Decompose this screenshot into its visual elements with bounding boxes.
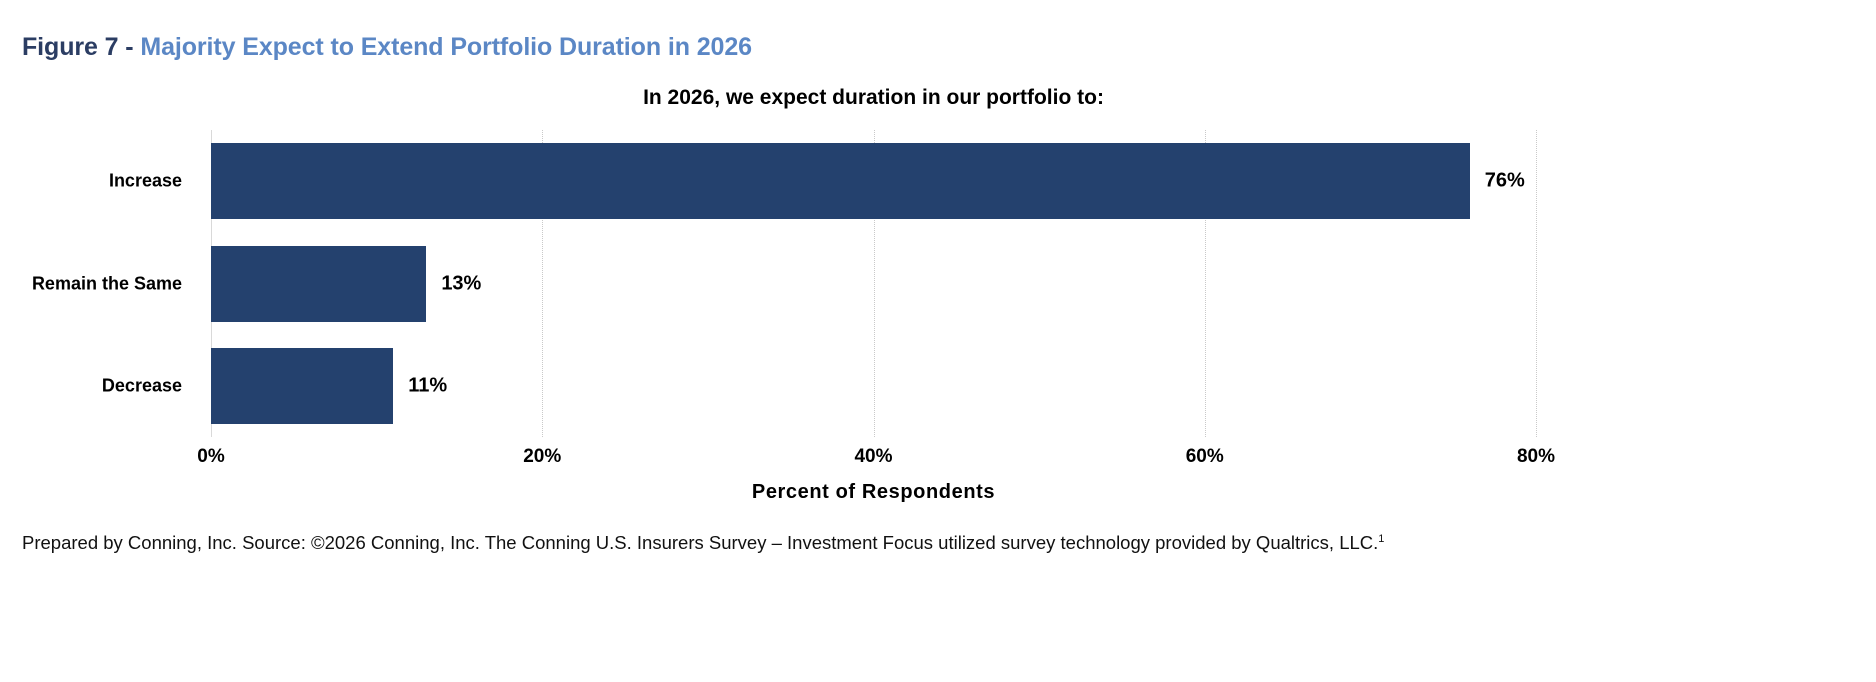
x-tick-label: 20% <box>523 446 561 468</box>
bar-row: 76% <box>211 143 1536 219</box>
bar-increase[interactable] <box>211 143 1470 219</box>
footnote: Prepared by Conning, Inc. Source: ©2026 … <box>22 532 1384 554</box>
x-tick-label: 40% <box>854 446 892 468</box>
footnote-superscript: 1 <box>1378 533 1384 545</box>
x-axis-title: Percent of Respondents <box>211 481 1536 504</box>
category-label-decrease: Decrease <box>102 375 182 396</box>
plot-area: 76%13%11% <box>211 130 1536 437</box>
bar-row: 11% <box>211 348 1536 424</box>
bar-value-label: 13% <box>426 272 481 295</box>
bar-decrease[interactable] <box>211 348 393 424</box>
footnote-text: Prepared by Conning, Inc. Source: ©2026 … <box>22 532 1378 553</box>
bar-remain-the-same[interactable] <box>211 246 426 322</box>
x-tick-label: 60% <box>1186 446 1224 468</box>
category-label-increase: Increase <box>109 171 182 192</box>
category-label-remain-the-same: Remain the Same <box>32 273 182 294</box>
x-tick-label: 0% <box>197 446 224 468</box>
bar-value-label: 76% <box>1470 170 1525 193</box>
bar-value-label: 11% <box>393 374 447 397</box>
bar-chart: In 2026, we expect duration in our portf… <box>0 0 1876 682</box>
bar-row: 13% <box>211 246 1536 322</box>
chart-title: In 2026, we expect duration in our portf… <box>211 86 1536 110</box>
gridline-80 <box>1536 130 1537 437</box>
x-tick-label: 80% <box>1517 446 1555 468</box>
